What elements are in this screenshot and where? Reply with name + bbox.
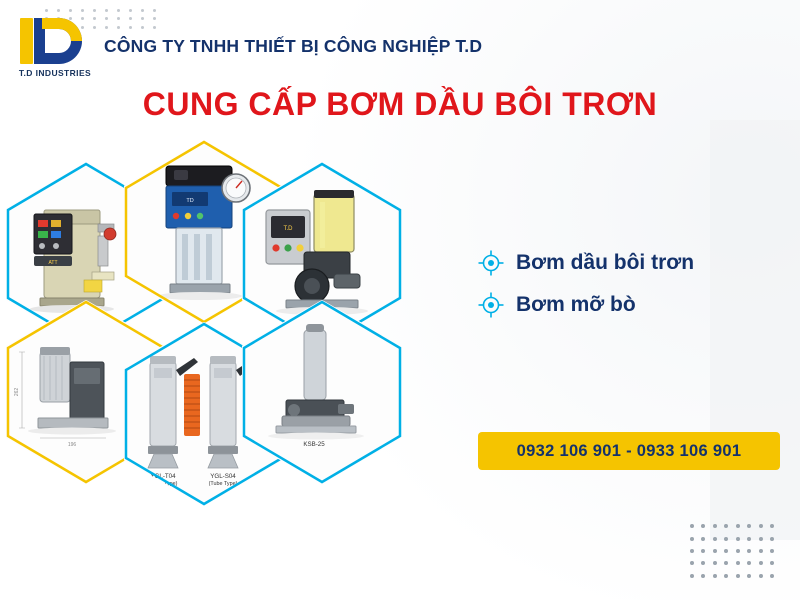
list-item: Bơm mỡ bò (478, 292, 788, 318)
list-item-label: Bơm dầu bôi trơn (516, 251, 694, 275)
svg-text:196: 196 (68, 442, 77, 448)
svg-text:T.D: T.D (284, 226, 294, 232)
phone-number-text: 0932 106 901 - 0933 106 901 (517, 442, 742, 461)
phone-number-box[interactable]: 0932 106 901 - 0933 106 901 (478, 432, 780, 470)
svg-text:YGL-T04: YGL-T04 (150, 473, 176, 480)
svg-text:TD: TD (186, 198, 193, 204)
svg-text:(Tube Type): (Tube Type) (149, 481, 178, 487)
svg-text:YGL-S04: YGL-S04 (210, 473, 236, 480)
logo-text: T.D INDUSTRIES (12, 68, 98, 78)
td-industries-logo: T.D INDUSTRIES (12, 16, 98, 88)
svg-text:(Tube Type): (Tube Type) (209, 481, 238, 487)
decorative-dot-grid-bottom (686, 520, 778, 582)
target-crosshair-icon (478, 250, 504, 276)
target-crosshair-icon (478, 292, 504, 318)
feature-list: Bơm dầu bôi trơn Bơm mỡ bò (478, 250, 788, 334)
company-name: CÔNG TY TNHH THIẾT BỊ CÔNG NGHIỆP T.D (104, 36, 482, 57)
list-item-label: Bơm mỡ bò (516, 293, 636, 317)
page-title: CUNG CẤP BƠM DẦU BÔI TRƠN (0, 86, 800, 123)
product-collage: ATT (6, 140, 468, 560)
svg-text:KSB-25: KSB-25 (303, 441, 325, 448)
list-item: Bơm dầu bôi trơn (478, 250, 788, 276)
svg-text:ATT: ATT (48, 260, 57, 266)
logo-d-shape-highlight (42, 18, 82, 41)
logo-mark (12, 16, 98, 66)
svg-text:262: 262 (14, 388, 20, 397)
promo-banner: T.D INDUSTRIES CÔNG TY TNHH THIẾT BỊ CÔN… (0, 0, 800, 600)
logo-yellow-bar (20, 18, 33, 64)
